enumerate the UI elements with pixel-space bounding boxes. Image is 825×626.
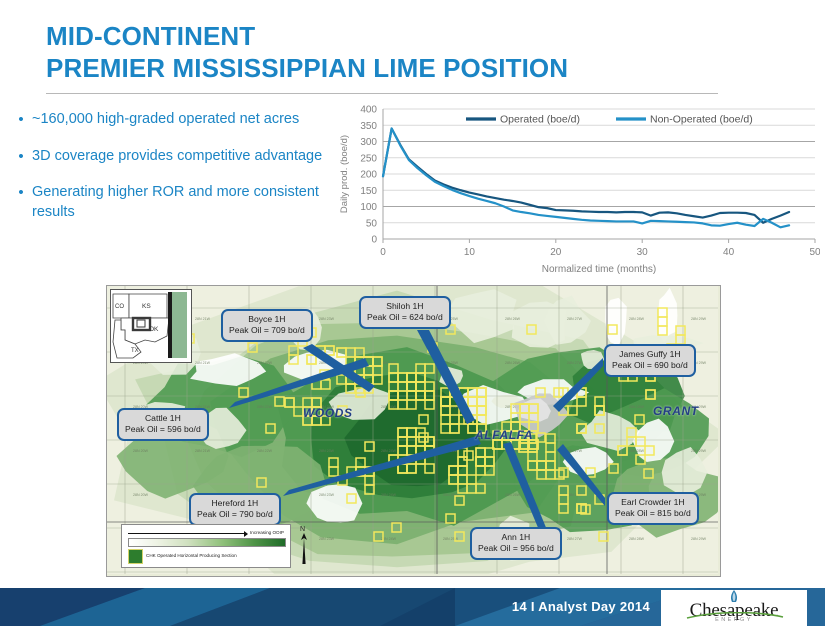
- legend-swatch-label: CHK Operated Horizontal Producing Sectio…: [146, 553, 237, 558]
- y-axis-tick: 100: [360, 202, 377, 213]
- x-axis-tick: 30: [637, 247, 649, 258]
- inset-label-ok: OK: [149, 326, 159, 333]
- grid-label: 28N 21W: [195, 361, 211, 365]
- page-title: MID-CONTINENT PREMIER MISSISSIPPIAN LIME…: [46, 20, 766, 84]
- grid-label: 28N 28W: [629, 449, 645, 453]
- bullet-dot-icon: •: [10, 147, 32, 167]
- legend-label: Non-Operated (boe/d): [650, 114, 753, 126]
- callout-shiloh-1h[interactable]: Shiloh 1H Peak Oil = 624 bo/d: [359, 296, 451, 329]
- callout-cattle-1h[interactable]: Cattle 1H Peak Oil = 596 bo/d: [117, 408, 209, 441]
- legend-label: Operated (boe/d): [500, 114, 580, 126]
- callout-well-name: Boyce 1H: [229, 314, 305, 325]
- callout-earl-crowder-1h[interactable]: Earl Crowder 1H Peak Oil = 815 bo/d: [607, 492, 699, 525]
- grid-label: 28N 20W: [133, 493, 149, 497]
- chart-series-line: [383, 129, 789, 223]
- production-decline-chart: 05010015020025030035040001020304050Norma…: [333, 101, 820, 277]
- callout-peak-oil: Peak Oil = 690 bo/d: [612, 360, 688, 371]
- inset-label-tx: TX: [131, 348, 139, 354]
- callout-well-name: Earl Crowder 1H: [615, 497, 691, 508]
- grid-label: 28N 20W: [133, 449, 149, 453]
- slide-footer: 14 I Analyst Day 2014 Chesapeake ENERGY: [0, 588, 825, 626]
- list-item: • Generating higher ROR and more consist…: [10, 183, 330, 222]
- grid-label: 28N 24W: [381, 449, 397, 453]
- state-inset-svg: CO KS OK TX: [111, 290, 189, 360]
- grid-label: 28N 27W: [567, 361, 583, 365]
- slide: MID-CONTINENT PREMIER MISSISSIPPIAN LIME…: [0, 0, 825, 626]
- x-axis-title: Normalized time (months): [542, 264, 656, 275]
- footer-page-info: 14 I Analyst Day 2014: [512, 599, 650, 614]
- y-axis-tick: 350: [360, 121, 377, 132]
- callout-well-name: James Guffy 1H: [612, 349, 688, 360]
- legend-arrow-icon: [244, 531, 248, 537]
- bullet-dot-icon: •: [10, 183, 32, 222]
- grid-label: 28N 26W: [505, 317, 521, 321]
- callout-hereford-1h[interactable]: Hereford 1H Peak Oil = 790 bo/d: [189, 493, 281, 526]
- title-line-1: MID-CONTINENT: [46, 20, 766, 52]
- callout-peak-oil: Peak Oil = 790 bo/d: [197, 509, 273, 520]
- county-label-woods: WOODS: [303, 406, 353, 420]
- y-axis-tick: 300: [360, 137, 377, 148]
- state-inset: CO KS OK TX: [110, 289, 192, 363]
- chesapeake-logo: Chesapeake ENERGY: [661, 590, 807, 626]
- x-axis-tick: 20: [550, 247, 562, 258]
- legend-arrow-line: [128, 533, 246, 534]
- grid-label: 28N 29W: [691, 449, 707, 453]
- north-label: N: [300, 526, 305, 533]
- callout-well-name: Hereford 1H: [197, 498, 273, 509]
- logo-tagline: ENERGY: [661, 617, 807, 623]
- grid-label: 28N 23W: [319, 449, 335, 453]
- list-item: • 3D coverage provides competitive advan…: [10, 147, 330, 167]
- bullet-dot-icon: •: [10, 110, 32, 130]
- title-divider: [46, 93, 718, 94]
- x-axis-tick: 40: [723, 247, 735, 258]
- grid-label: 28N 27W: [567, 537, 583, 541]
- callout-well-name: Cattle 1H: [125, 413, 201, 424]
- list-item: • ~160,000 high-graded operated net acre…: [10, 110, 330, 130]
- legend-ooip-gradient: [128, 538, 286, 547]
- grid-label: 28N 27W: [567, 317, 583, 321]
- y-axis-tick: 250: [360, 153, 377, 164]
- title-line-2: PREMIER MISSISSIPPIAN LIME POSITION: [46, 52, 766, 84]
- bullet-list: • ~160,000 high-graded operated net acre…: [10, 110, 330, 239]
- y-axis-title: Daily prod. (boe/d): [339, 135, 350, 213]
- grid-label: 28N 23W: [319, 537, 335, 541]
- legend-gradient-arrow: Increasing OOIP: [128, 530, 284, 537]
- y-axis-tick: 400: [360, 105, 377, 116]
- legend-gradient-label: Increasing OOIP: [250, 530, 284, 535]
- y-axis-tick: 150: [360, 186, 377, 197]
- chart-canvas: 05010015020025030035040001020304050Norma…: [333, 101, 820, 277]
- county-label-grant: GRANT: [653, 404, 699, 418]
- grid-label: 28N 28W: [629, 537, 645, 541]
- callout-peak-oil: Peak Oil = 956 bo/d: [478, 543, 554, 554]
- legend-section-swatch: [128, 549, 143, 564]
- grid-label: 28N 29W: [691, 317, 707, 321]
- bullet-text: ~160,000 high-graded operated net acres: [32, 110, 330, 130]
- inset-label-co: CO: [115, 304, 124, 310]
- inset-label-ks: KS: [142, 303, 151, 310]
- x-axis-tick: 0: [380, 247, 386, 258]
- county-label-alfalfa: ALFALFA: [475, 428, 533, 442]
- grid-label: 28N 29W: [691, 537, 707, 541]
- north-arrow-icon: N: [297, 524, 311, 566]
- callout-well-name: Ann 1H: [478, 532, 554, 543]
- grid-label: 28N 21W: [195, 317, 211, 321]
- y-axis-tick: 50: [366, 218, 378, 229]
- callout-peak-oil: Peak Oil = 624 bo/d: [367, 312, 443, 323]
- y-axis-tick: 200: [360, 170, 377, 181]
- bullet-text: Generating higher ROR and more consisten…: [32, 183, 330, 222]
- grid-label: 28N 23W: [319, 317, 335, 321]
- bullet-text: 3D coverage provides competitive advanta…: [32, 147, 330, 167]
- grid-label: 28N 26W: [505, 361, 521, 365]
- grid-label: 28N 26W: [505, 493, 521, 497]
- mississippian-lime-map: 28N 20W28N 20W28N 20W28N 20W28N 20W28N 2…: [106, 285, 721, 577]
- grid-label: 28N 24W: [381, 493, 397, 497]
- callout-well-name: Shiloh 1H: [367, 301, 443, 312]
- grid-label: 28N 22W: [257, 405, 273, 409]
- callout-peak-oil: Peak Oil = 815 bo/d: [615, 508, 691, 519]
- y-axis-tick: 0: [371, 235, 377, 246]
- callout-boyce-1h[interactable]: Boyce 1H Peak Oil = 709 bo/d: [221, 309, 313, 342]
- grid-label: 28N 22W: [257, 361, 273, 365]
- map-legend: Increasing OOIP CHK Operated Horizontal …: [121, 524, 291, 568]
- x-axis-tick: 50: [809, 247, 820, 258]
- x-axis-tick: 10: [464, 247, 476, 258]
- callout-peak-oil: Peak Oil = 709 bo/d: [229, 325, 305, 336]
- callout-peak-oil: Peak Oil = 596 bo/d: [125, 424, 201, 435]
- grid-label: 28N 23W: [319, 493, 335, 497]
- callout-ann-1h[interactable]: Ann 1H Peak Oil = 956 bo/d: [470, 527, 562, 560]
- callout-james-guffy-1h[interactable]: James Guffy 1H Peak Oil = 690 bo/d: [604, 344, 696, 377]
- grid-label: 28N 28W: [629, 405, 645, 409]
- grid-label: 28N 22W: [257, 449, 273, 453]
- grid-label: 28N 21W: [195, 449, 211, 453]
- grid-label: 28N 28W: [629, 317, 645, 321]
